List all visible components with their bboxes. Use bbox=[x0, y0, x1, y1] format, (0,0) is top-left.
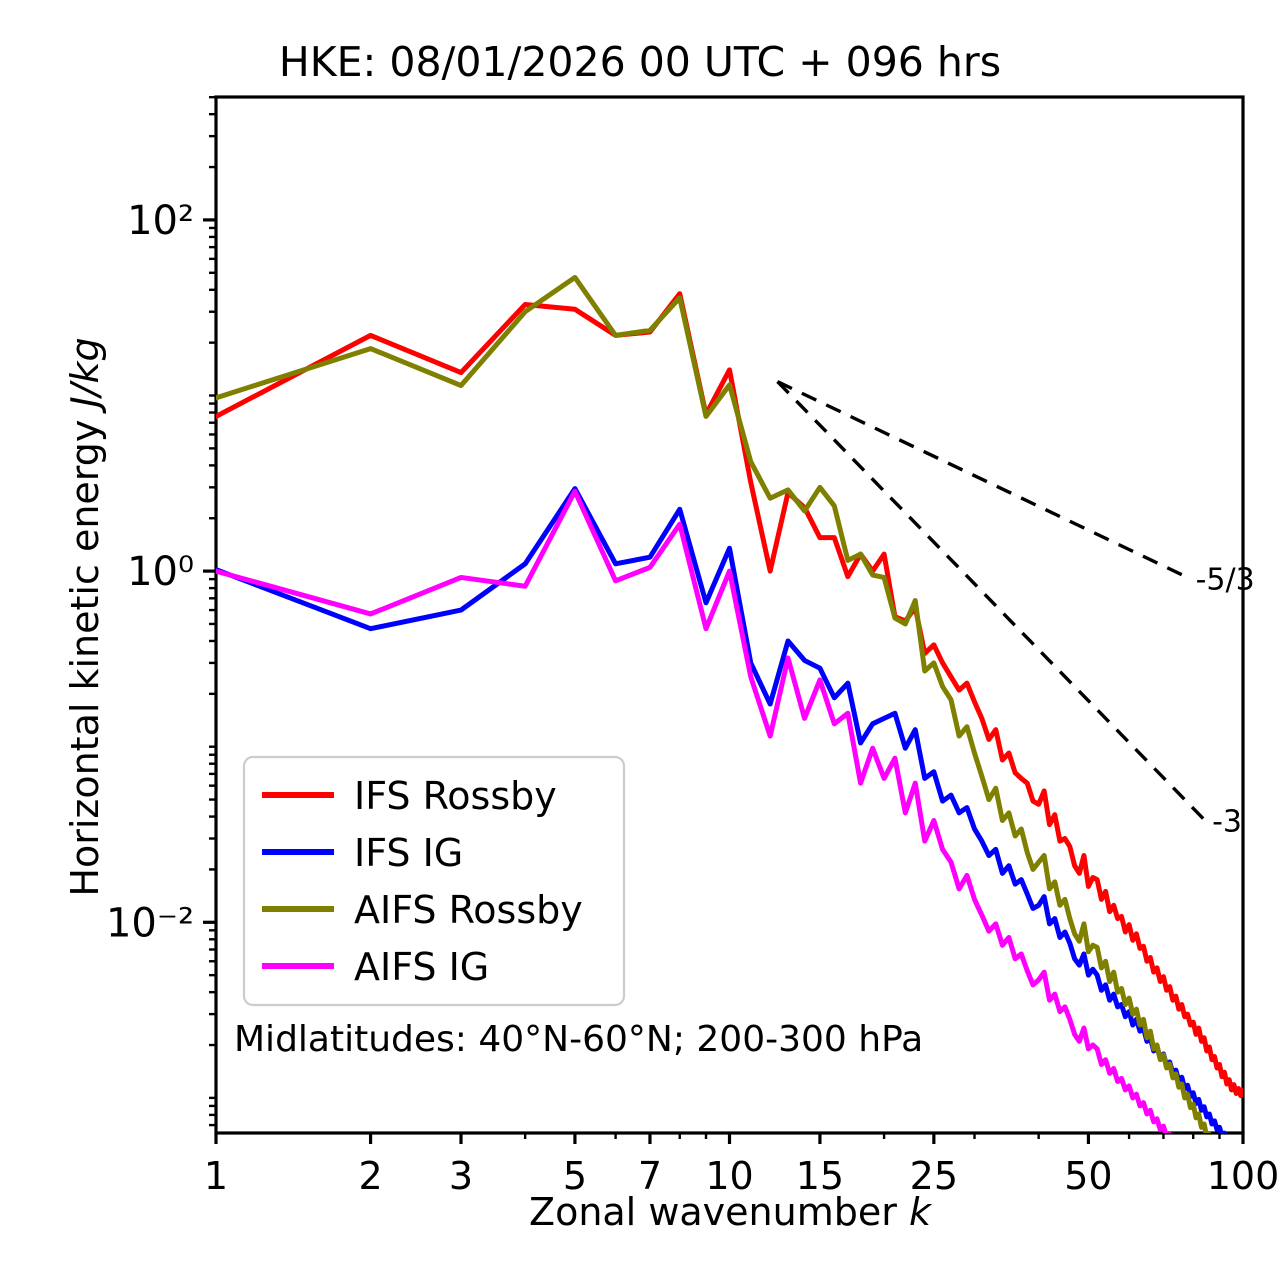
x-axis-label-main: Zonal wavenumber bbox=[529, 1190, 897, 1234]
x-axis-label-symbol: k bbox=[909, 1190, 931, 1234]
legend-label-0: IFS Rossby bbox=[354, 774, 557, 818]
legend-label-1: IFS IG bbox=[354, 831, 463, 875]
plot-annotation: Midlatitudes: 40°N-60°N; 200-300 hPa bbox=[234, 1019, 923, 1060]
slope-line-label-3: -3 bbox=[1212, 804, 1242, 839]
plot-area: 123571015255010010²10⁰10⁻²-5/3-3IFS Ross… bbox=[0, 0, 1280, 1288]
x-axis-label: Zonal wavenumber k bbox=[216, 1190, 1244, 1234]
y-axis-ticks bbox=[203, 97, 216, 1125]
slope-line-label-53: -5/3 bbox=[1196, 562, 1255, 597]
legend-label-3: AIFS IG bbox=[354, 945, 489, 989]
y-tick-label: 10⁻² bbox=[106, 900, 194, 946]
y-axis-label-units: J/kg bbox=[63, 337, 107, 407]
x-axis-ticks bbox=[216, 1133, 1243, 1144]
y-tick-label: 10² bbox=[127, 198, 194, 244]
y-axis-label-main: Horizontal kinetic energy bbox=[63, 420, 107, 897]
legend-label-2: AIFS Rossby bbox=[354, 888, 583, 932]
y-tick-label: 10⁰ bbox=[127, 549, 194, 595]
y-axis-label: Horizontal kinetic energy J/kg bbox=[63, 247, 107, 987]
figure-canvas: HKE: 08/01/2026 00 UTC + 096 hrs 1235710… bbox=[0, 0, 1280, 1288]
